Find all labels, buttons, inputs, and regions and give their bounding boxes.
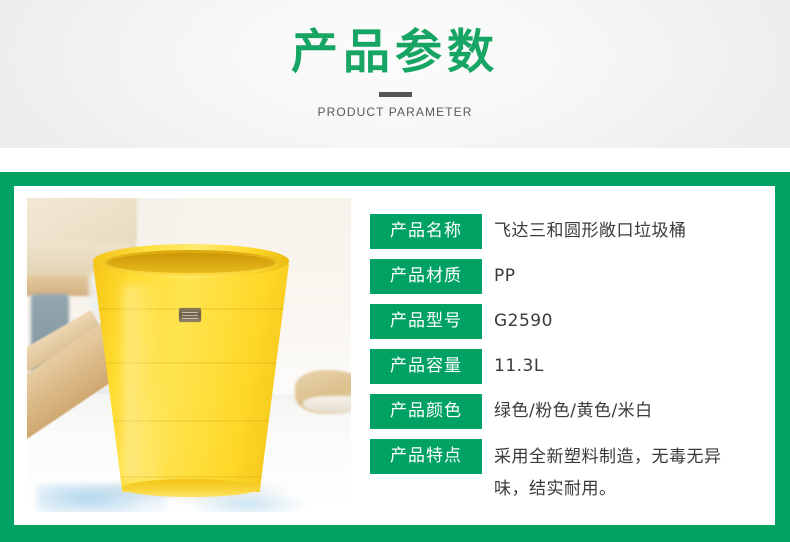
page-header: 产品参数 PRODUCT PARAMETER (0, 0, 790, 148)
table-row: 产品型号 G2590 (370, 304, 762, 339)
photo-slipper-sole (303, 396, 351, 412)
spec-value-capacity: 11.3L (482, 349, 762, 384)
product-brand-badge (179, 308, 201, 322)
spec-value-material: PP (482, 259, 762, 294)
spec-value-features: 采用全新塑料制造，无毒无异 味，结实耐用。 (482, 439, 762, 505)
spec-value-model: G2590 (482, 304, 762, 339)
page-title: 产品参数 (0, 26, 790, 80)
product-photo (27, 198, 351, 512)
table-row: 产品特点 采用全新塑料制造，无毒无异 味，结实耐用。 (370, 439, 762, 505)
spec-label-color: 产品颜色 (370, 394, 482, 429)
product-bin-highlight (123, 284, 163, 480)
spec-value-product-name: 飞达三和圆形敞口垃圾桶 (482, 214, 762, 249)
table-row: 产品材质 PP (370, 259, 762, 294)
product-bin-base (122, 479, 260, 497)
spec-label-material: 产品材质 (370, 259, 482, 294)
table-row: 产品颜色 绿色/粉色/黄色/米白 (370, 394, 762, 429)
spec-label-features: 产品特点 (370, 439, 482, 474)
table-row: 产品名称 飞达三和圆形敞口垃圾桶 (370, 214, 762, 249)
spec-table: 产品名称 飞达三和圆形敞口垃圾桶 产品材质 PP 产品型号 G2590 产品容量… (370, 214, 762, 515)
product-bin-interior (107, 253, 275, 273)
spec-label-capacity: 产品容量 (370, 349, 482, 384)
spec-label-product-name: 产品名称 (370, 214, 482, 249)
spec-value-color: 绿色/粉色/黄色/米白 (482, 394, 762, 429)
product-parameter-page: 产品参数 PRODUCT PARAMETER (0, 0, 790, 542)
title-divider (379, 92, 412, 97)
spec-label-model: 产品型号 (370, 304, 482, 339)
table-row: 产品容量 11.3L (370, 349, 762, 384)
page-subtitle: PRODUCT PARAMETER (0, 104, 790, 120)
